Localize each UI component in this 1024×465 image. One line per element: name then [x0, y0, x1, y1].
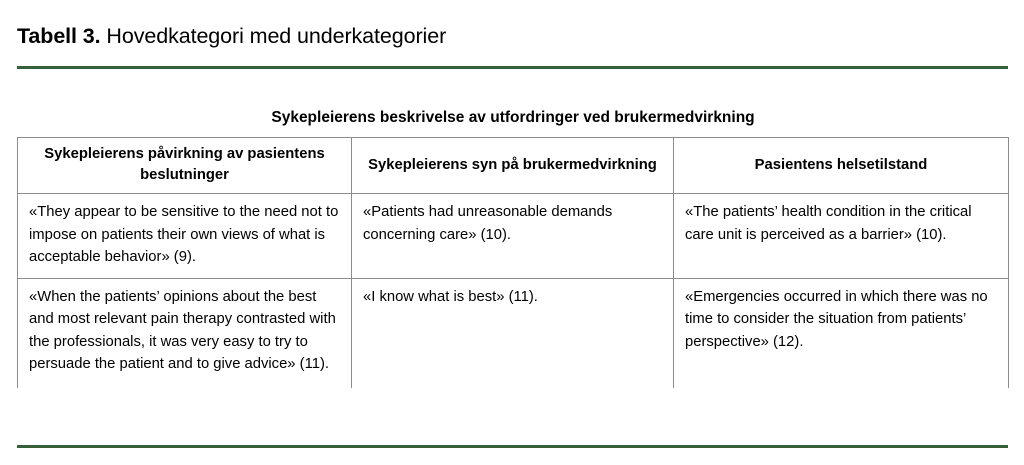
- table-spanning-header: Sykepleierens beskrivelse av utfordringe…: [18, 108, 1009, 138]
- cell-r2c1: «When the patients’ opinions about the b…: [18, 278, 352, 388]
- column-header-3: Pasientens helsetilstand: [674, 138, 1009, 194]
- bottom-green-rule: [17, 445, 1008, 448]
- table-caption-label: Tabell 3.: [17, 24, 101, 48]
- document-page: Tabell 3. Hovedkategori med underkategor…: [0, 0, 1024, 465]
- column-header-1: Sykepleierens påvirkning av pasientens b…: [18, 138, 352, 194]
- top-green-rule: [17, 66, 1008, 69]
- table-caption: Tabell 3. Hovedkategori med underkategor…: [17, 22, 446, 50]
- table-row: «They appear to be sensitive to the need…: [18, 194, 1009, 279]
- table-spanning-header-row: Sykepleierens beskrivelse av utfordringe…: [18, 108, 1009, 138]
- table-row: «When the patients’ opinions about the b…: [18, 278, 1009, 388]
- categories-table: Sykepleierens beskrivelse av utfordringe…: [17, 108, 1009, 388]
- table-header-row: Sykepleierens påvirkning av pasientens b…: [18, 138, 1009, 194]
- cell-r1c1: «They appear to be sensitive to the need…: [18, 194, 352, 279]
- table-container: Sykepleierens beskrivelse av utfordringe…: [17, 108, 1008, 388]
- cell-r2c3: «Emergencies occurred in which there was…: [674, 278, 1009, 388]
- cell-r2c2: «I know what is best» (11).: [352, 278, 674, 388]
- cell-r1c3: «The patients’ health condition in the c…: [674, 194, 1009, 279]
- cell-r1c2: «Patients had unreasonable demands conce…: [352, 194, 674, 279]
- table-caption-text: Hovedkategori med underkategorier: [101, 24, 447, 48]
- column-header-2: Sykepleierens syn på brukermedvirkning: [352, 138, 674, 194]
